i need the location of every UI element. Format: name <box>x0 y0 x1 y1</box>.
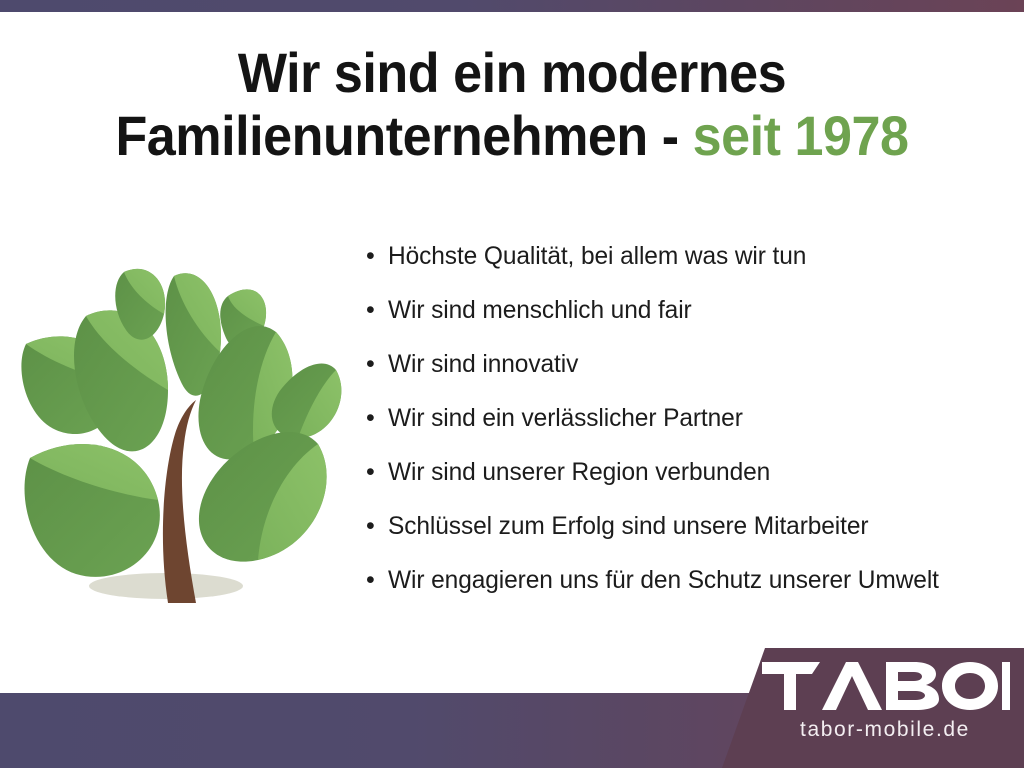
list-item: • Wir sind ein verlässlicher Partner <box>366 402 1024 456</box>
logo-letter-t <box>762 662 820 710</box>
tree-illustration <box>18 248 348 610</box>
list-item: • Wir sind innovativ <box>366 348 1024 402</box>
logo-letter-b <box>886 662 939 710</box>
title-line-2: Familienunternehmen - seit 1978 <box>36 105 988 168</box>
bullet-icon: • <box>366 240 388 273</box>
tabor-wordmark-logo <box>762 662 1010 710</box>
list-item: • Schlüssel zum Erfolg sind unsere Mitar… <box>366 510 1024 564</box>
list-item-label: Wir engagieren uns für den Schutz unsere… <box>388 564 939 597</box>
list-item-label: Wir sind unserer Region verbunden <box>388 456 770 489</box>
logo-letter-o <box>942 662 998 710</box>
list-item: • Wir sind unserer Region verbunden <box>366 456 1024 510</box>
bullet-icon: • <box>366 402 388 435</box>
list-item: • Wir sind menschlich und fair <box>366 294 1024 348</box>
leaf-lower-left <box>25 444 160 577</box>
list-item: • Wir engagieren uns für den Schutz unse… <box>366 564 1024 618</box>
list-item-label: Höchste Qualität, bei allem was wir tun <box>388 240 806 273</box>
value-bullet-list: • Höchste Qualität, bei allem was wir tu… <box>366 240 1024 618</box>
list-item: • Höchste Qualität, bei allem was wir tu… <box>366 240 1024 294</box>
bullet-icon: • <box>366 348 388 381</box>
bullet-icon: • <box>366 510 388 543</box>
bullet-icon: • <box>366 456 388 489</box>
page-title: Wir sind ein modernes Familienunternehme… <box>0 42 1024 167</box>
top-accent-bar <box>0 0 1024 12</box>
list-item-label: Schlüssel zum Erfolg sind unsere Mitarbe… <box>388 510 868 543</box>
list-item-label: Wir sind innovativ <box>388 348 578 381</box>
title-accent-year: seit 1978 <box>693 104 909 167</box>
list-item-label: Wir sind ein verlässlicher Partner <box>388 402 743 435</box>
title-line-1: Wir sind ein modernes <box>36 42 988 105</box>
list-item-label: Wir sind menschlich und fair <box>388 294 692 327</box>
logo-letter-r <box>1002 662 1010 710</box>
bullet-icon: • <box>366 294 388 327</box>
tree-trunk <box>163 400 196 603</box>
brand-url-label: tabor-mobile.de <box>760 718 1010 742</box>
slide-canvas: Wir sind ein modernes Familienunternehme… <box>0 0 1024 768</box>
title-line-2-prefix: Familienunternehmen - <box>115 104 692 167</box>
bullet-icon: • <box>366 564 388 597</box>
brand-logo-block: tabor-mobile.de <box>700 648 1024 768</box>
logo-letter-a <box>822 662 882 710</box>
